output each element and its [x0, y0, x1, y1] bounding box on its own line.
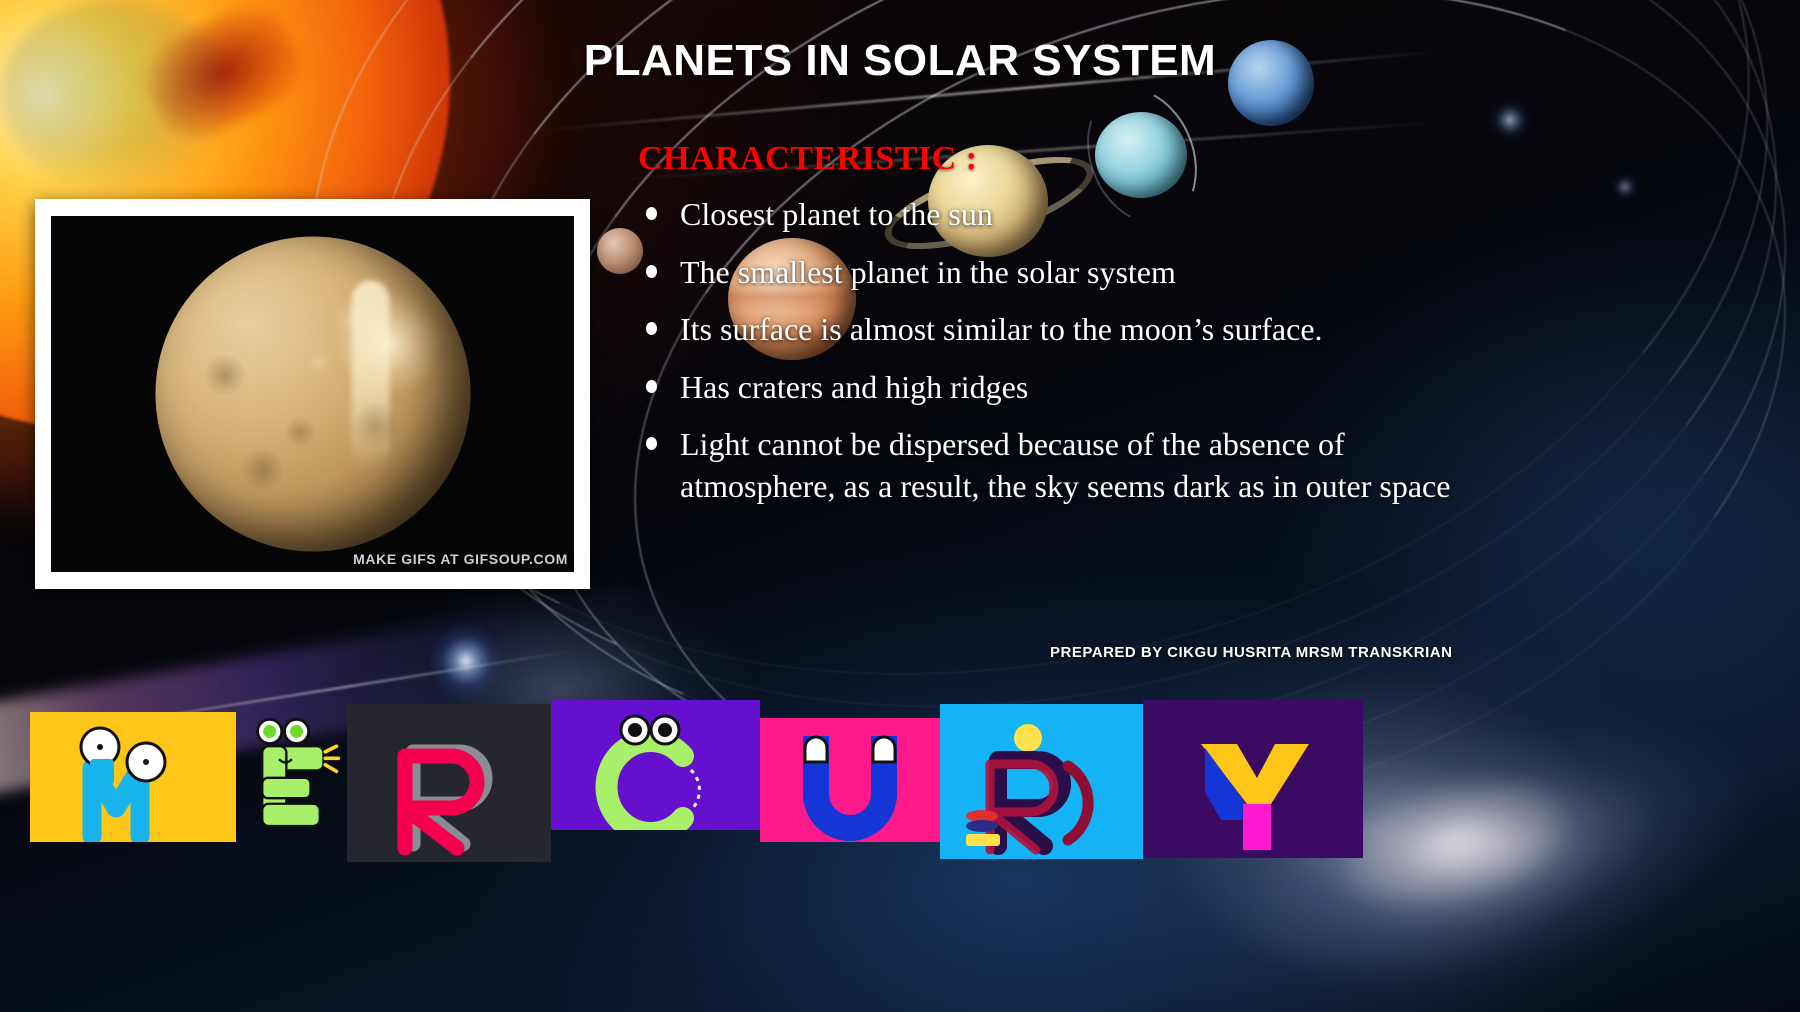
list-item: Light cannot be dispersed because of the…: [638, 424, 1498, 507]
letter-m-glyph: [30, 712, 236, 842]
letter-r-1-svg: [347, 704, 551, 862]
letter-tile-m[interactable]: [30, 712, 236, 842]
letter-c-glyph: [551, 700, 760, 830]
list-item: The smallest planet in the solar system: [638, 252, 1558, 294]
list-item: Has craters and high ridges: [638, 367, 1558, 409]
list-item: Its surface is almost similar to the moo…: [638, 309, 1558, 351]
letter-tile-c[interactable]: [551, 700, 760, 830]
green-glow-planet: [0, 0, 230, 190]
letter-tile-e[interactable]: [240, 700, 342, 850]
letter-y-svg: [1143, 700, 1363, 858]
page-title: PLANETS IN SOLAR SYSTEM: [0, 36, 1800, 86]
letter-e-svg: [240, 700, 342, 850]
letter-c-svg: [551, 700, 760, 830]
letter-tile-y[interactable]: [1143, 700, 1363, 858]
photo-watermark: MAKE GIFS AT GIFSOUP.COM: [353, 551, 568, 567]
letter-tile-u[interactable]: [760, 718, 940, 842]
mercury-sphere: [155, 237, 470, 552]
content-block: CHARACTERISTIC : Closest planet to the s…: [638, 140, 1558, 524]
characteristic-heading: CHARACTERISTIC :: [638, 140, 1558, 178]
list-item: Closest planet to the sun: [638, 194, 1558, 236]
letter-r-1-glyph: [347, 704, 551, 862]
letter-m-svg: [30, 712, 236, 842]
letter-e-glyph: [240, 700, 342, 850]
letter-y-glyph: [1143, 700, 1363, 858]
characteristic-list: Closest planet to the sun The smallest p…: [638, 194, 1558, 508]
mercury-photo: MAKE GIFS AT GIFSOUP.COM: [51, 216, 574, 572]
mercury-photo-frame: MAKE GIFS AT GIFSOUP.COM: [35, 199, 590, 589]
letter-r-2-svg: [940, 704, 1143, 859]
letter-tile-r-2[interactable]: [940, 704, 1143, 859]
planet-mars: [597, 228, 643, 274]
letter-u-glyph: [760, 718, 940, 842]
star-glow-1: [430, 625, 502, 697]
letter-tile-r-1[interactable]: [347, 704, 551, 862]
slide-canvas: PLANETS IN SOLAR SYSTEM MAKE GIFS AT GIF…: [0, 0, 1800, 1012]
mercury-highlight-streak: [351, 281, 389, 471]
letter-u-svg: [760, 718, 940, 842]
letter-r-2-glyph: [940, 704, 1143, 859]
prepared-by-credit: PREPARED BY CIKGU HUSRITA MRSM TRANSKRIA…: [1050, 644, 1470, 661]
